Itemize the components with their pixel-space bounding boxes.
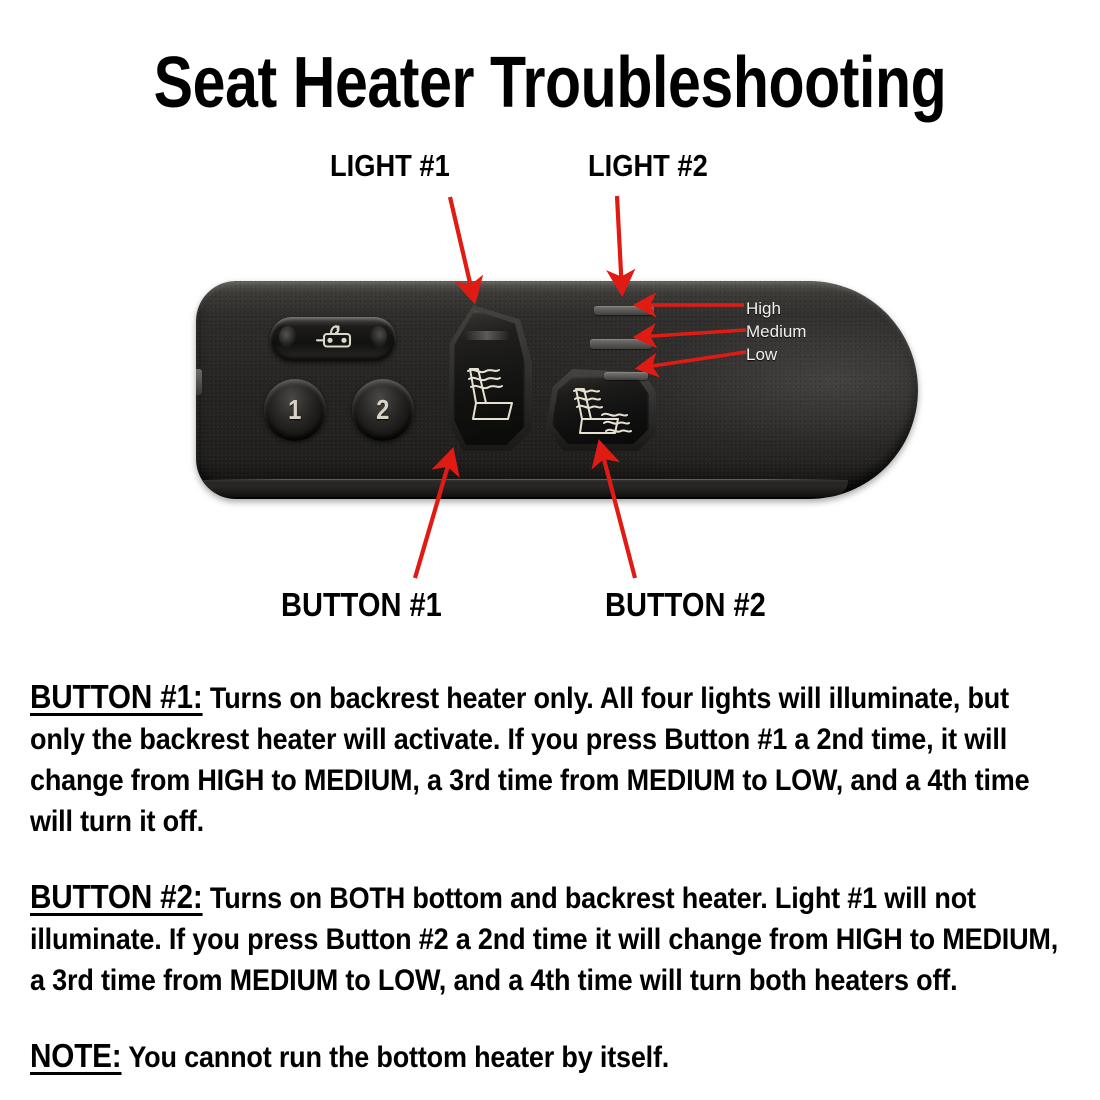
level-label-high: High	[746, 299, 781, 319]
memory-preset-button-1[interactable]: 1	[264, 379, 326, 441]
preset-1-label: 1	[288, 394, 301, 426]
callout-label-button-1: BUTTON #1	[281, 586, 442, 624]
memory-seat-icon	[311, 323, 355, 356]
panel-housing: 1 2	[196, 281, 918, 499]
indicator-light-medium	[590, 339, 652, 349]
panel-lower-lip	[202, 480, 848, 497]
seat-control-panel: 1 2	[196, 281, 918, 499]
panel-side-clip	[196, 369, 202, 395]
callout-label-button-2: BUTTON #2	[605, 586, 766, 624]
arrow-light-2	[617, 196, 622, 292]
level-label-medium: Medium	[746, 322, 806, 342]
instruction-button-2: BUTTON #2: Turns on BOTH bottom and back…	[30, 876, 1070, 1001]
indicator-light-high	[594, 306, 654, 315]
instruction-text-note: You cannot run the bottom heater by itse…	[122, 1041, 670, 1074]
level-label-low: Low	[746, 345, 777, 365]
preset-2-label: 2	[376, 394, 389, 426]
callout-label-light-2: LIGHT #2	[588, 148, 708, 184]
indicator-light-low	[604, 372, 648, 380]
page-title: Seat Heater Troubleshooting	[99, 44, 1001, 122]
instructions-block: BUTTON #1: Turns on backrest heater only…	[30, 676, 1072, 1078]
backrest-heater-button[interactable]	[448, 305, 532, 451]
instruction-button-1: BUTTON #1: Turns on backrest heater only…	[30, 676, 1070, 842]
callout-label-light-1: LIGHT #1	[330, 148, 450, 184]
both-heaters-button[interactable]	[546, 369, 656, 451]
backrest-heater-icon	[458, 363, 522, 429]
memory-set-button[interactable]	[270, 317, 396, 361]
instruction-lead-button-2: BUTTON #2:	[30, 878, 203, 915]
seat-and-backrest-heater-icon	[568, 383, 646, 443]
button-highlight	[464, 331, 510, 340]
instruction-note: NOTE: You cannot run the bottom heater b…	[30, 1035, 1070, 1078]
instruction-lead-note: NOTE:	[30, 1037, 122, 1074]
instruction-lead-button-1: BUTTON #1:	[30, 678, 203, 715]
memory-preset-button-2[interactable]: 2	[352, 379, 414, 441]
